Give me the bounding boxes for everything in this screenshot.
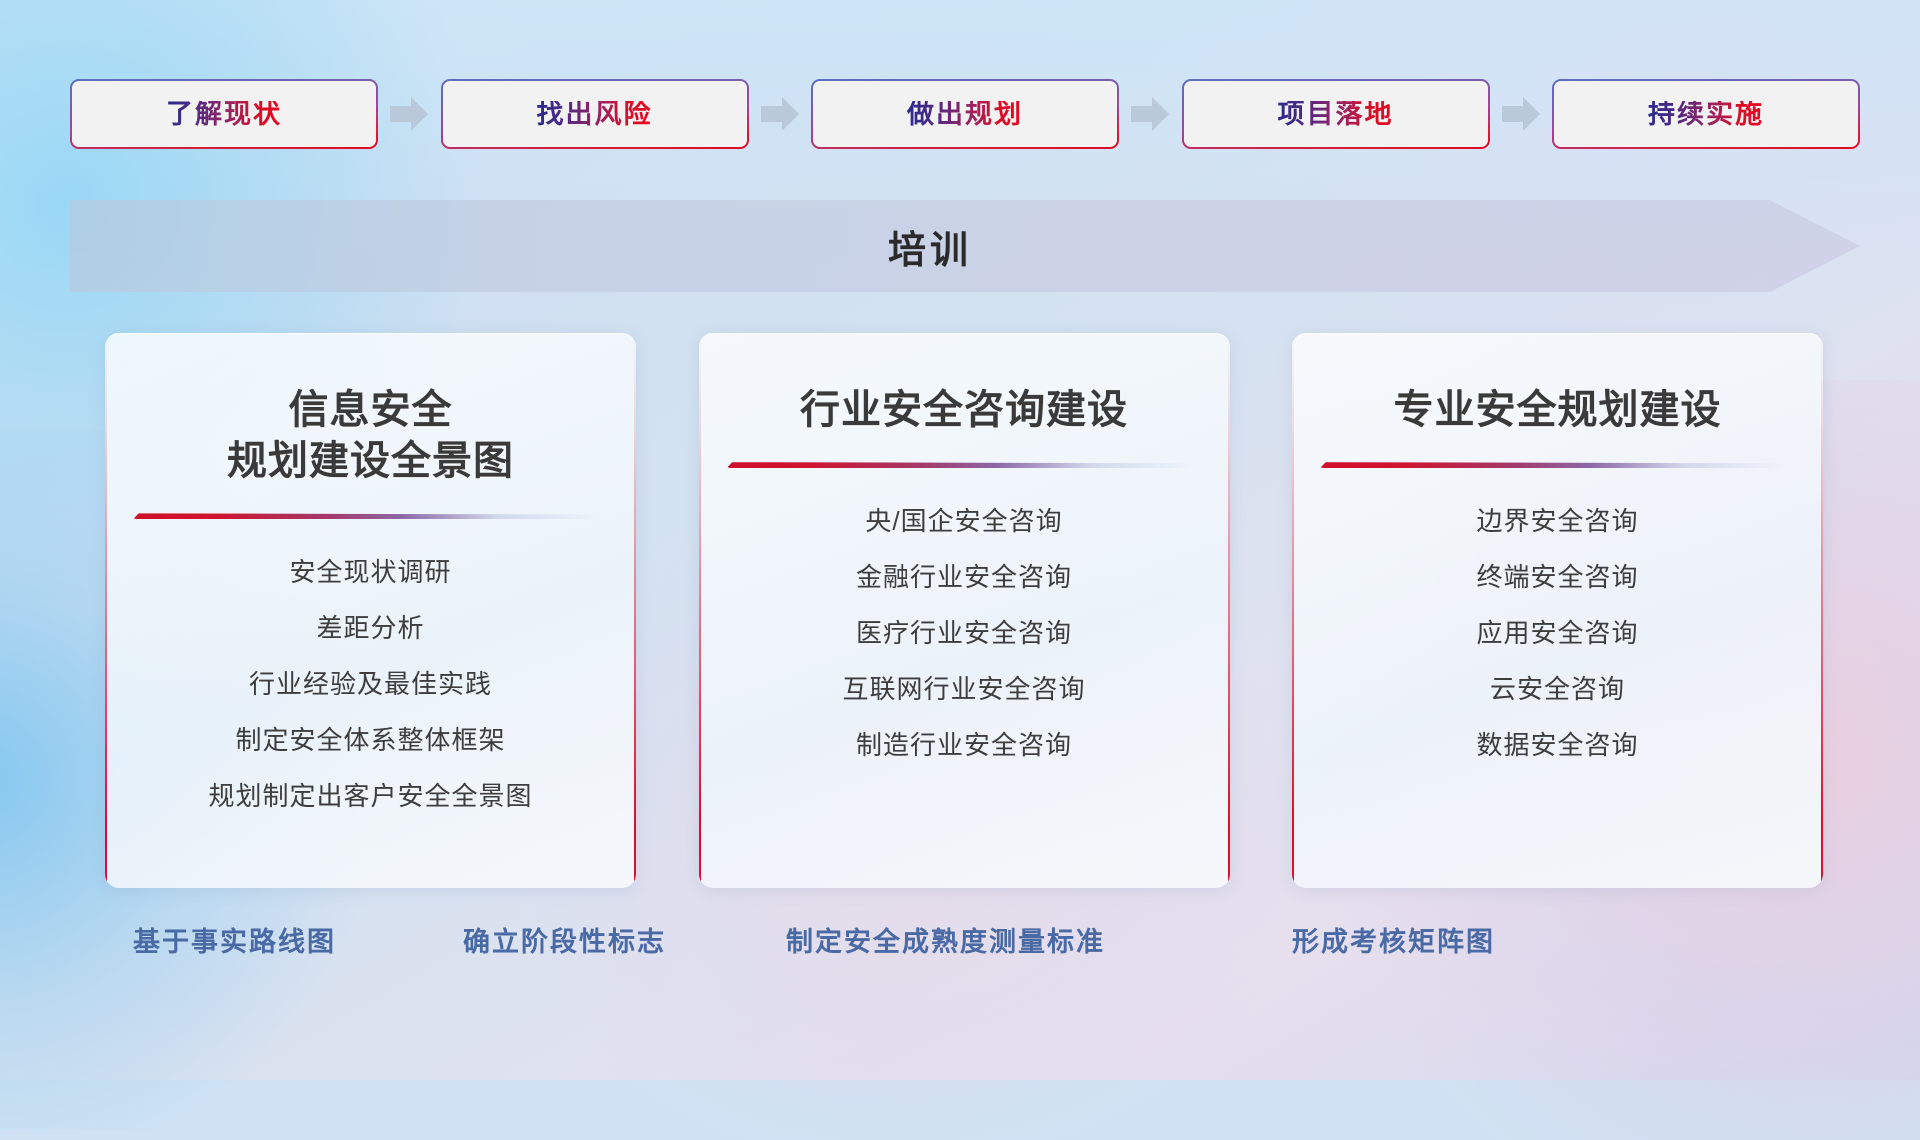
list-item: 制造行业安全咨询 <box>719 732 1210 758</box>
step-label-5: 持续实施 <box>1648 101 1764 128</box>
step-box-4[interactable]: 项目落地 <box>1182 79 1490 149</box>
list-item: 应用安全咨询 <box>1312 620 1803 646</box>
capability-cards: 信息安全 规划建设全景图 安全现状调研 差距分析 行业经验及最佳实践 制定安全体… <box>105 333 1823 888</box>
card-title: 专业安全规划建设 <box>1292 333 1823 436</box>
step-box-2[interactable]: 找出风险 <box>441 79 749 149</box>
list-item: 终端安全咨询 <box>1312 564 1803 590</box>
card-title: 行业安全咨询建设 <box>699 333 1230 436</box>
card-divider <box>727 462 1192 468</box>
list-item: 规划制定出客户安全全景图 <box>125 783 616 809</box>
outcome-caption: 制定安全成熟度测量标准 <box>786 920 1105 964</box>
list-item: 安全现状调研 <box>125 559 616 585</box>
list-item: 数据安全咨询 <box>1312 732 1803 758</box>
card-right-accent <box>1821 333 1823 888</box>
card-left-accent <box>105 333 107 888</box>
step-inner-4: 项目落地 <box>1184 81 1488 147</box>
list-item: 差距分析 <box>125 615 616 641</box>
capability-card[interactable]: 信息安全 规划建设全景图 安全现状调研 差距分析 行业经验及最佳实践 制定安全体… <box>105 333 636 888</box>
card-title: 信息安全 规划建设全景图 <box>105 333 636 487</box>
step-inner-1: 了解现状 <box>72 81 376 147</box>
step-inner-2: 找出风险 <box>443 81 747 147</box>
card-left-accent <box>699 333 701 888</box>
card-item-list: 央/国企安全咨询 金融行业安全咨询 医疗行业安全咨询 互联网行业安全咨询 制造行… <box>699 468 1230 758</box>
list-item: 金融行业安全咨询 <box>719 564 1210 590</box>
training-banner: 培训 <box>70 200 1860 292</box>
step-box-5[interactable]: 持续实施 <box>1552 79 1860 149</box>
outcome-caption: 形成考核矩阵图 <box>1292 920 1495 964</box>
step-label-3: 做出规划 <box>907 101 1023 128</box>
step-label-1: 了解现状 <box>166 101 282 128</box>
step-inner-3: 做出规划 <box>813 81 1117 147</box>
step-label-4: 项目落地 <box>1278 101 1394 128</box>
step-box-1[interactable]: 了解现状 <box>70 79 378 149</box>
list-item: 云安全咨询 <box>1312 676 1803 702</box>
list-item: 医疗行业安全咨询 <box>719 620 1210 646</box>
slide-stage: 了解现状 找出风险 做出规划 <box>0 0 1920 1080</box>
card-right-accent <box>634 333 636 888</box>
banner-title: 培训 <box>70 200 1790 292</box>
list-item: 央/国企安全咨询 <box>719 508 1210 534</box>
card-divider <box>133 513 598 519</box>
capability-card[interactable]: 专业安全规划建设 边界安全咨询 终端安全咨询 应用安全咨询 云安全咨询 数据安全… <box>1292 333 1823 888</box>
list-item: 制定安全体系整体框架 <box>125 727 616 753</box>
arrow-right-icon <box>761 97 799 131</box>
arrow-right-icon <box>390 97 428 131</box>
capability-card[interactable]: 行业安全咨询建设 央/国企安全咨询 金融行业安全咨询 医疗行业安全咨询 互联网行… <box>699 333 1230 888</box>
outcome-captions: 基于事实路线图 确立阶段性标志 制定安全成熟度测量标准 形成考核矩阵图 <box>0 920 1920 964</box>
card-left-accent <box>1292 333 1294 888</box>
process-steps: 了解现状 找出风险 做出规划 <box>70 79 1860 149</box>
card-item-list: 安全现状调研 差距分析 行业经验及最佳实践 制定安全体系整体框架 规划制定出客户… <box>105 519 636 809</box>
list-item: 边界安全咨询 <box>1312 508 1803 534</box>
list-item: 行业经验及最佳实践 <box>125 671 616 697</box>
outcome-caption: 基于事实路线图 <box>133 920 336 964</box>
card-item-list: 边界安全咨询 终端安全咨询 应用安全咨询 云安全咨询 数据安全咨询 <box>1292 468 1823 758</box>
card-right-accent <box>1228 333 1230 888</box>
card-divider <box>1320 462 1785 468</box>
step-label-2: 找出风险 <box>537 101 653 128</box>
list-item: 互联网行业安全咨询 <box>719 676 1210 702</box>
step-box-3[interactable]: 做出规划 <box>811 79 1119 149</box>
step-inner-5: 持续实施 <box>1554 81 1858 147</box>
outcome-caption: 确立阶段性标志 <box>463 920 666 964</box>
arrow-right-icon <box>1502 97 1540 131</box>
arrow-right-icon <box>1131 97 1169 131</box>
